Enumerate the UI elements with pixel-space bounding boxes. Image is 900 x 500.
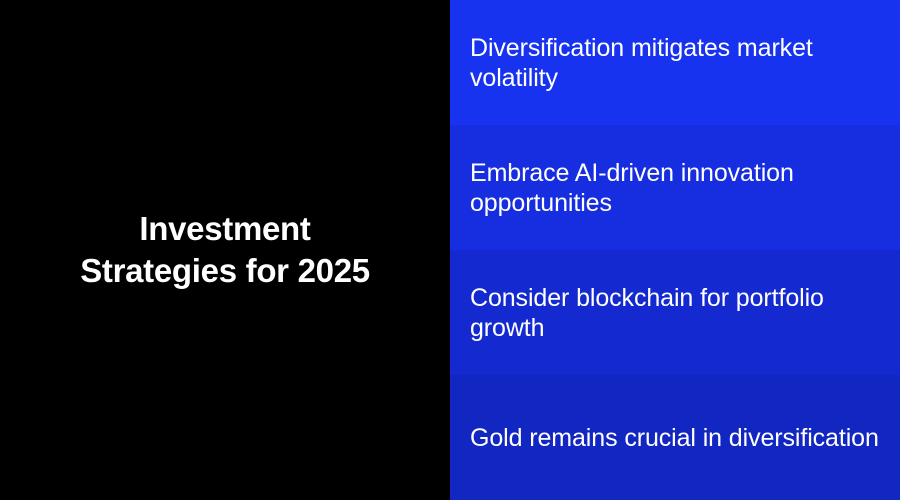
key-point-row-4[interactable]: Gold remains crucial in diversification xyxy=(450,375,900,500)
key-point-text-1: Diversification mitigates market volatil… xyxy=(470,33,880,93)
key-points-panel: Diversification mitigates market volatil… xyxy=(450,0,900,500)
key-point-row-3[interactable]: Consider blockchain for portfolio growth xyxy=(450,250,900,375)
key-point-text-2: Embrace AI-driven innovation opportuniti… xyxy=(470,158,880,218)
slide-title: Investment Strategies for 2025 xyxy=(80,208,370,292)
presentation-slide: Investment Strategies for 2025 Diversifi… xyxy=(0,0,900,500)
key-point-row-2[interactable]: Embrace AI-driven innovation opportuniti… xyxy=(450,125,900,250)
key-point-text-3: Consider blockchain for portfolio growth xyxy=(470,283,880,343)
key-point-row-1[interactable]: Diversification mitigates market volatil… xyxy=(450,0,900,125)
title-panel: Investment Strategies for 2025 xyxy=(0,0,450,500)
key-point-text-4: Gold remains crucial in diversification xyxy=(470,423,880,453)
